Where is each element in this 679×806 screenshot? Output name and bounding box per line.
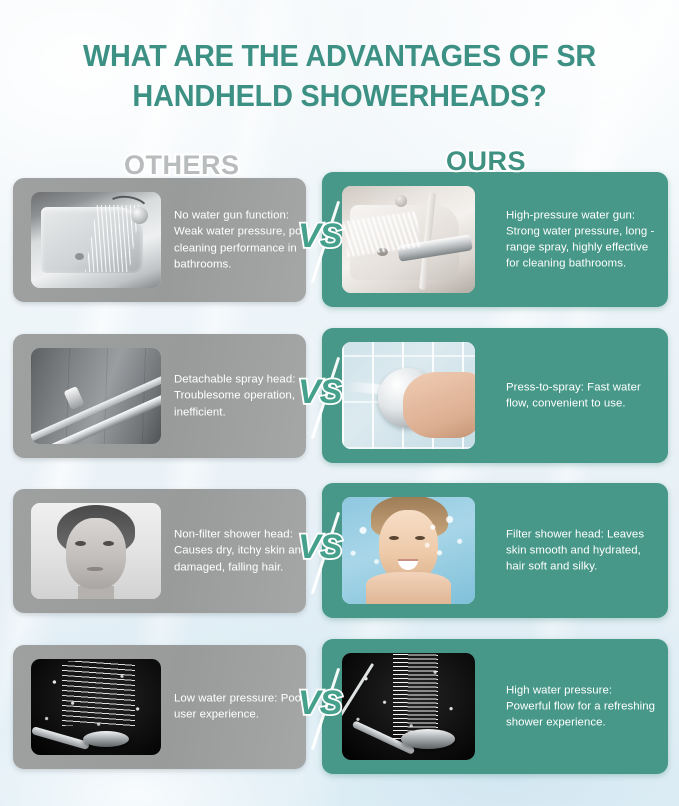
ours-thumbnail [342,653,475,760]
column-header-ours: OURS [446,146,526,177]
others-card: Low water pressure: Poor user experience… [13,645,306,769]
ours-description: High-pressure water gun: Strong water pr… [506,207,658,272]
gray-bathtub-weak-spray-photo [31,192,161,288]
infographic-page: WHAT ARE THE ADVANTAGES OF SR HANDHELD S… [0,0,679,806]
others-description: Non-filter shower head: Causes dry, itch… [174,527,314,576]
others-card: Detachable spray head: Troublesome opera… [13,334,306,458]
comparison-row: Non-filter shower head: Causes dry, itch… [0,487,679,617]
bathtub-water-gun-spray-photo [342,186,475,293]
dark-high-pressure-showerhead-photo [342,653,475,760]
page-title: WHAT ARE THE ADVANTAGES OF SR HANDHELD S… [24,36,655,115]
ours-card: Filter shower head: Leaves skin smooth a… [322,483,668,618]
others-description: No water gun function: Weak water pressu… [174,207,314,272]
others-description: Detachable spray head: Troublesome opera… [174,372,314,421]
smiling-woman-water-splash-photo [342,497,475,604]
column-header-others: OTHERS [124,150,240,181]
others-card: No water gun function: Weak water pressu… [13,178,306,302]
comparison-row: Low water pressure: Poor user experience… [0,643,679,773]
ours-thumbnail [342,186,475,293]
others-thumbnail [31,659,161,755]
comparison-row: Detachable spray head: Troublesome opera… [0,332,679,462]
others-thumbnail [31,503,161,599]
others-thumbnail [31,348,161,444]
others-card: Non-filter shower head: Causes dry, itch… [13,489,306,613]
others-thumbnail [31,192,161,288]
page-title-line-2: HANDHELD SHOWERHEADS? [24,76,655,116]
ours-card: Press-to-spray: Fast water flow, conveni… [322,328,668,463]
ours-description: High water pressure: Powerful flow for a… [506,682,658,731]
gray-shower-rail-photo [31,348,161,444]
comparison-row: No water gun function: Weak water pressu… [0,176,679,306]
ours-description: Press-to-spray: Fast water flow, conveni… [506,379,658,412]
ours-thumbnail [342,342,475,449]
hand-pressing-showerhead-photo [342,342,475,449]
grayscale-dull-face-photo [31,503,161,599]
ours-card: High-pressure water gun: Strong water pr… [322,172,668,307]
ours-thumbnail [342,497,475,604]
ours-description: Filter shower head: Leaves skin smooth a… [506,526,658,575]
others-description: Low water pressure: Poor user experience… [174,691,314,724]
dark-low-pressure-showerhead-photo [31,659,161,755]
ours-card: High water pressure: Powerful flow for a… [322,639,668,774]
page-title-line-1: WHAT ARE THE ADVANTAGES OF SR [24,36,655,76]
